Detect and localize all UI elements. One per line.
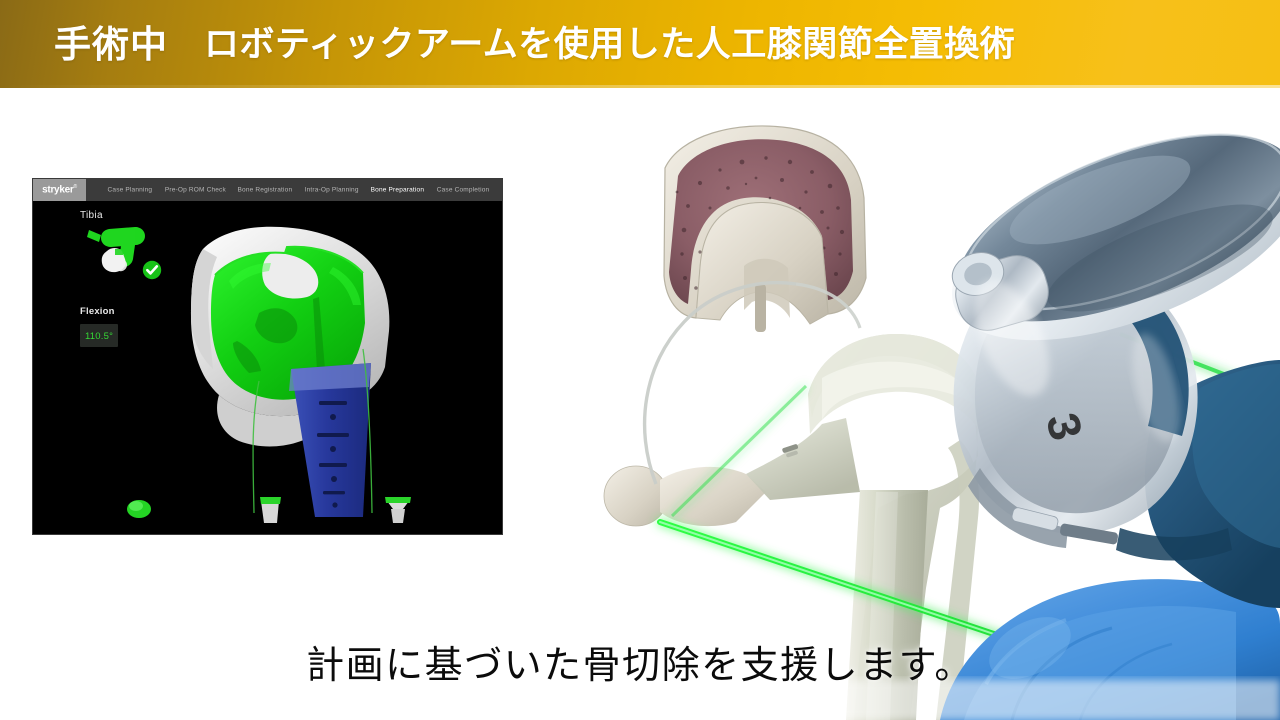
header-status-label: 手術中 <box>54 26 168 63</box>
flexion-value-badge: 110.5° <box>80 324 118 347</box>
thumbnail-implant-right <box>385 497 411 523</box>
viewport-thumbnails[interactable] <box>127 497 411 523</box>
planning-navbar: stryker Case Planning Pre-Op ROM Check B… <box>33 179 502 201</box>
render-svg: 3 <box>560 88 1280 720</box>
nav-item-case-planning[interactable]: Case Planning <box>107 186 152 194</box>
stryker-logo-text: stryker <box>42 184 77 195</box>
nav-item-bone-registration[interactable]: Bone Registration <box>237 186 292 194</box>
main-stage: 3 stryker Case Planning Pre-Op ROM <box>0 88 1280 720</box>
subtitle-text: 計画に基づいた骨切除を支援します。 <box>306 646 974 688</box>
flexion-label: Flexion <box>80 306 115 317</box>
nav-item-pre-op-rom-check[interactable]: Pre-Op ROM Check <box>164 186 225 194</box>
flexion-value: 110.5° <box>85 331 113 342</box>
nav-item-intra-op-planning[interactable]: Intra-Op Planning <box>304 186 358 194</box>
bone-label-tibia: Tibia <box>80 210 103 221</box>
header-title: ロボティックアームを使用した人工膝関節全置換術 <box>204 27 1015 62</box>
nav-item-bone-preparation[interactable]: Bone Preparation <box>371 186 424 194</box>
stryker-logo: stryker <box>33 179 86 201</box>
femur-cross-section <box>664 126 866 332</box>
stryker-planning-screen[interactable]: stryker Case Planning Pre-Op ROM Check B… <box>32 178 503 535</box>
subtitle-container: 計画に基づいた骨切除を支援します。 <box>0 646 1280 688</box>
header-banner: 手術中 ロボティックアームを使用した人工膝関節全置換術 <box>0 0 1280 88</box>
nav-item-case-completion[interactable]: Case Completion <box>437 186 490 194</box>
planning-nav-items: Case Planning Pre-Op ROM Check Bone Regi… <box>86 179 502 201</box>
check-circle-icon <box>142 260 162 280</box>
thumbnail-implant-left <box>260 497 281 523</box>
robotic-arm-end-effector: 3 <box>926 96 1280 608</box>
surgical-3d-render: 3 <box>560 88 1280 720</box>
